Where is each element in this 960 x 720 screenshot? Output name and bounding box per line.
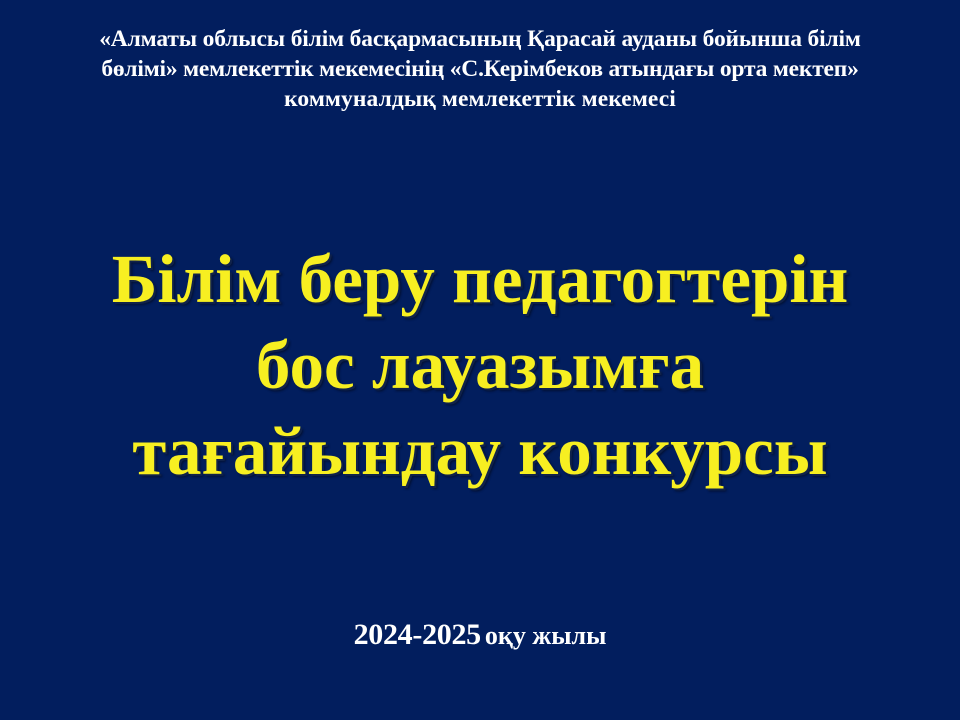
main-title-line-3: тағайындау конкурсы xyxy=(40,408,920,494)
academic-year-footer: 2024-2025оқу жылы xyxy=(0,618,960,652)
main-title-line-2: бос лауазымға xyxy=(40,322,920,408)
institution-header: «Алматы облысы білім басқармасының Қарас… xyxy=(28,24,932,114)
institution-header-line-1: «Алматы облысы білім басқармасының Қарас… xyxy=(28,24,932,54)
academic-year-range: 2024-2025 xyxy=(354,618,481,651)
academic-year-suffix: оқу жылы xyxy=(485,621,607,650)
institution-header-line-2: бөлімі» мемлекеттік мекемесінің «С.Керім… xyxy=(28,54,932,84)
presentation-slide: «Алматы облысы білім басқармасының Қарас… xyxy=(0,0,960,720)
main-title-line-1: Білім беру педагогтерін xyxy=(40,236,920,322)
institution-header-line-3: коммуналдық мемлекеттік мекемесі xyxy=(28,84,932,114)
slide-main-title: Білім беру педагогтерін бос лауазымға та… xyxy=(40,236,920,494)
